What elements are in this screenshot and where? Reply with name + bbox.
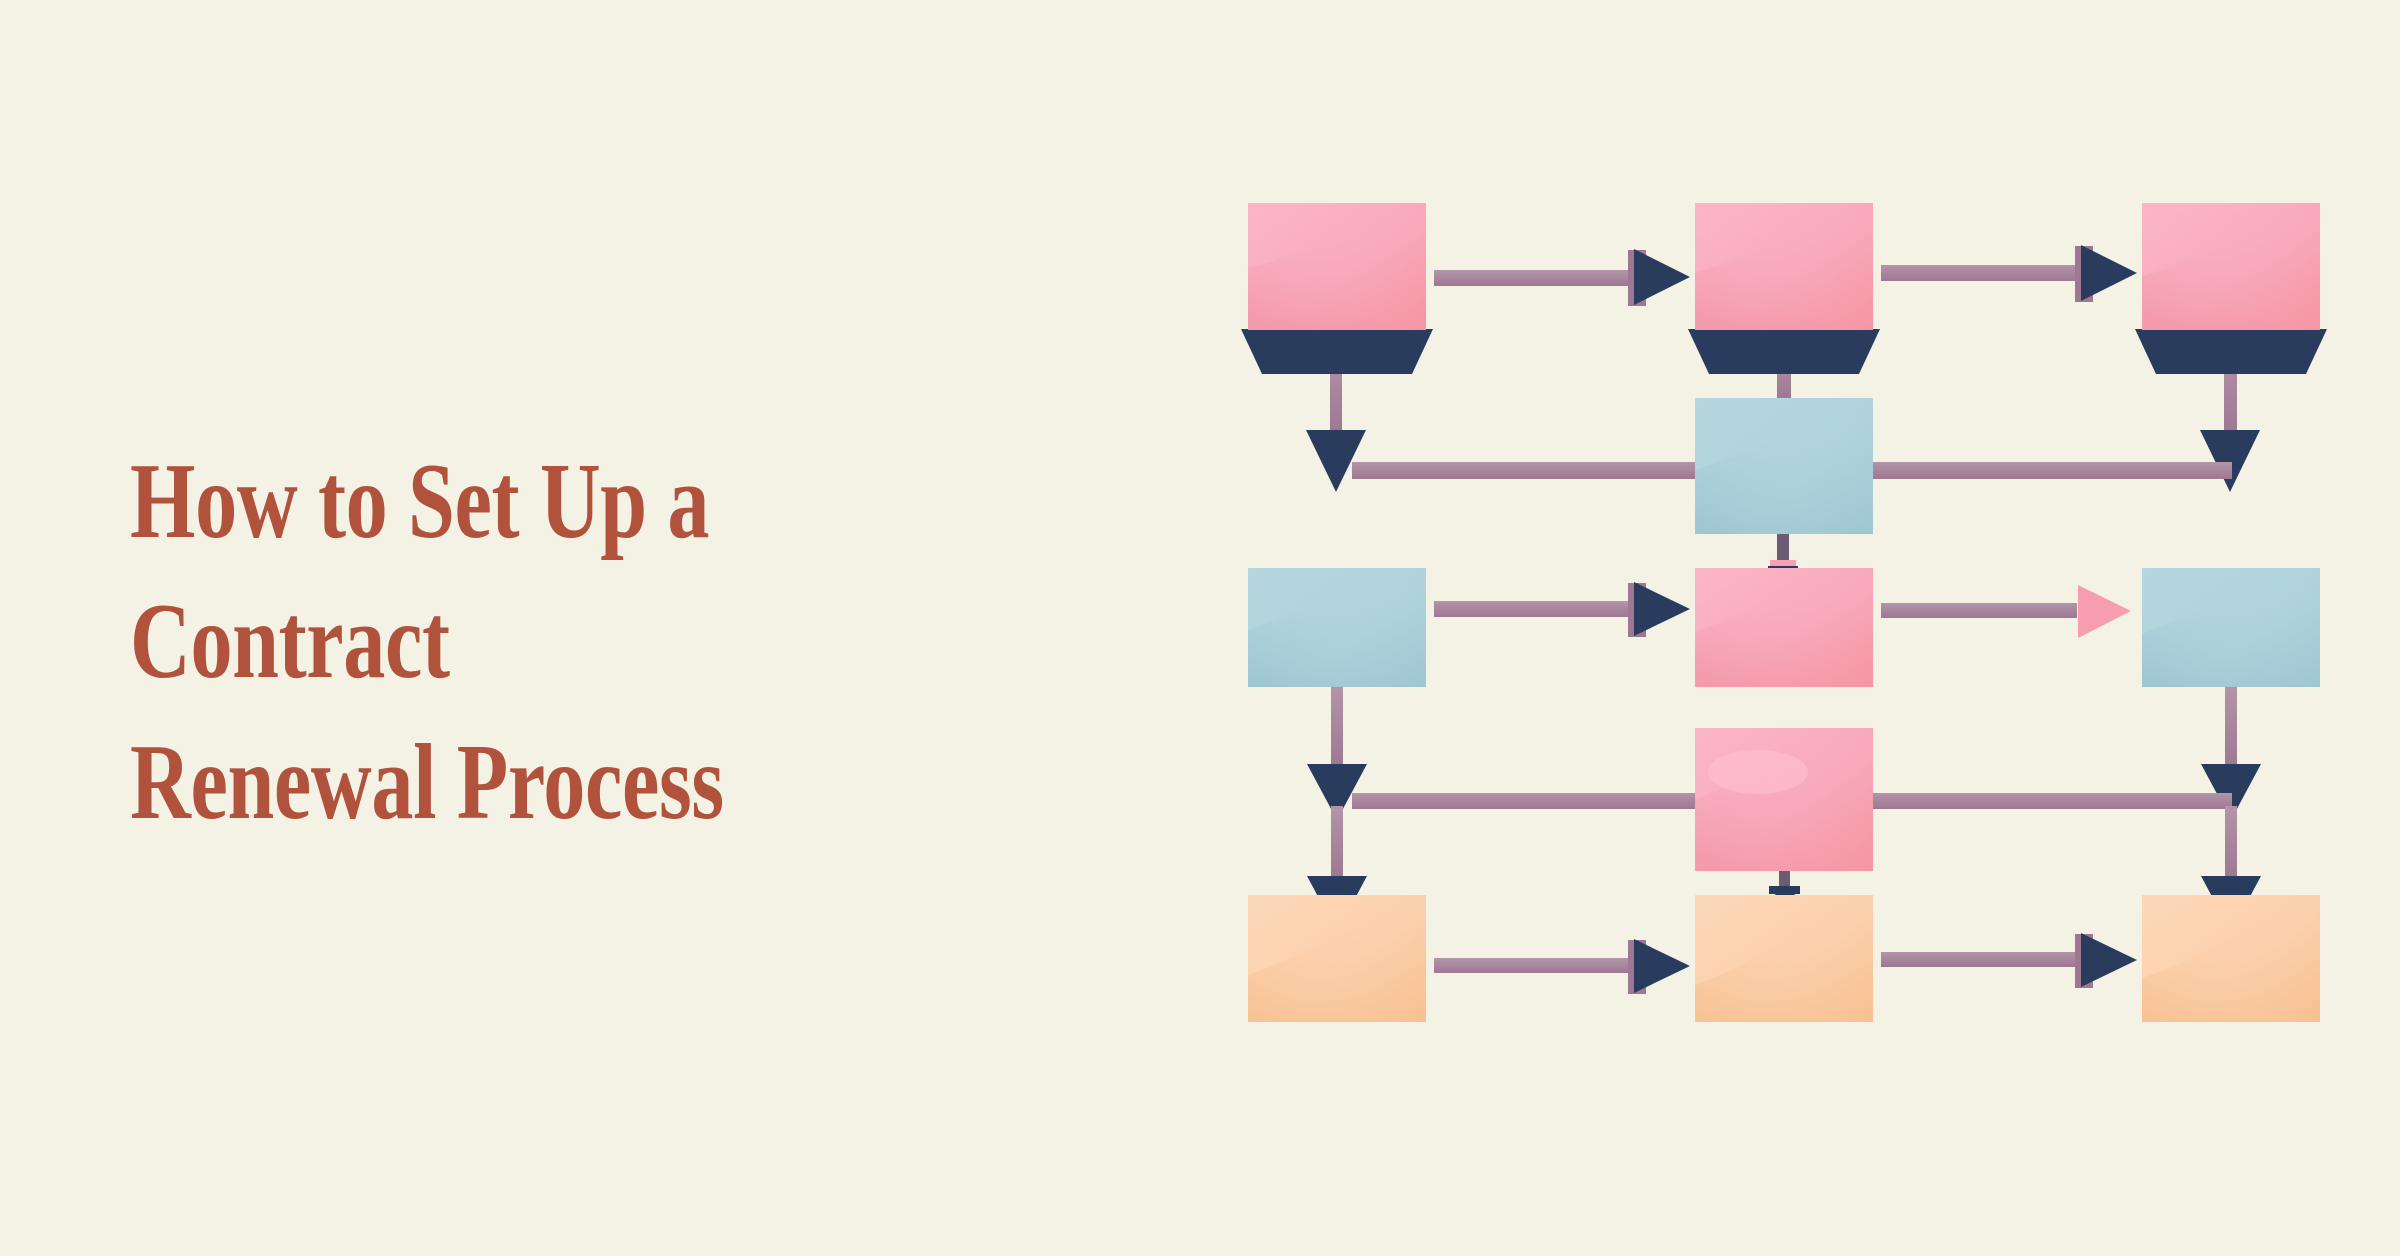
edge-blue-down (1768, 528, 1798, 573)
node-n1[interactable] (1248, 203, 1426, 330)
edge-blue-left (1352, 462, 1702, 479)
page-root: How to Set Up a Contract Renewal Process (0, 0, 2400, 1256)
node-base-n3 (2135, 329, 2327, 374)
node-n7[interactable] (2142, 568, 2320, 687)
node-n5[interactable] (1248, 568, 1426, 687)
edge-n7-down (2201, 686, 2261, 820)
node-n4[interactable] (1695, 398, 1873, 534)
node-n6[interactable] (1695, 568, 1873, 687)
node-n3[interactable] (2142, 203, 2320, 330)
edge-n8-left (1352, 793, 1702, 809)
edge-n8-n10 (1769, 862, 1800, 902)
node-n8[interactable] (1695, 728, 1873, 871)
title-block: How to Set Up a Contract Renewal Process (130, 432, 1150, 853)
edge-n3-down (2200, 344, 2260, 492)
node-base-n1 (1241, 329, 1433, 374)
node-base-layer (1241, 329, 2327, 374)
edge-n1-down (1306, 344, 1366, 492)
edge-n9-n10 (1434, 939, 1690, 994)
node-n2[interactable] (1695, 203, 1873, 330)
edge-n6-n7 (1881, 585, 2131, 638)
edge-n5-n6 (1434, 582, 1690, 637)
edge-n2-n3 (1881, 245, 2137, 302)
edge-n5-down (1307, 686, 1367, 820)
edge-n8-right (1866, 793, 2232, 809)
edge-n1-n2 (1434, 249, 1690, 306)
page-title: How to Set Up a Contract Renewal Process (130, 432, 926, 853)
edge-n10-n11 (1881, 933, 2137, 988)
edge-layer (1306, 245, 2261, 994)
node-n10[interactable] (1695, 895, 1873, 1022)
edge-row4-left-down (1307, 806, 1367, 932)
node-base-n2 (1688, 329, 1880, 374)
node-n11[interactable] (2142, 895, 2320, 1022)
edge-row4-right-down (2201, 806, 2261, 932)
edge-n2-down-to-blue (1777, 346, 1791, 402)
node-n9[interactable] (1248, 895, 1426, 1022)
node-layer (1248, 203, 2320, 1022)
edge-blue-right (1866, 462, 2232, 479)
